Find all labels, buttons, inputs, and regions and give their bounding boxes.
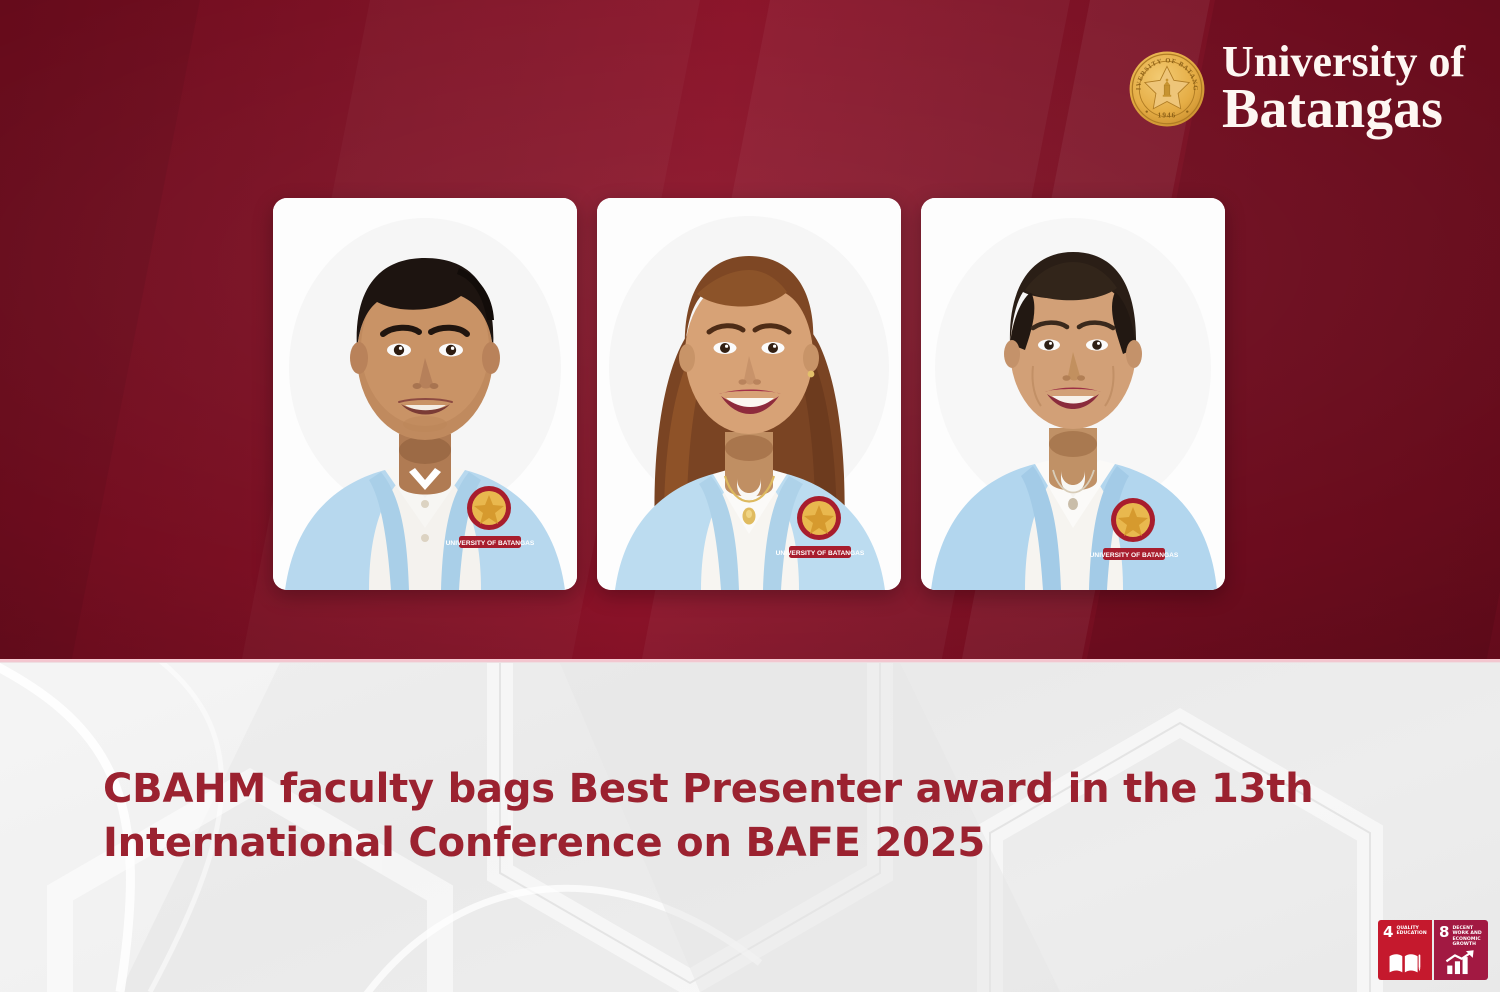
portrait-card: UNIVERSITY OF BATANGAS [273, 198, 577, 590]
announcement-poster: UNIVERSITY OF BATANGAS 1946 University o… [0, 0, 1500, 992]
headline-panel: CBAHM faculty bags Best Presenter award … [0, 663, 1500, 992]
university-brand-lockup: UNIVERSITY OF BATANGAS 1946 University o… [1128, 42, 1465, 136]
sdg-badge-header: 8 DECENT WORK AND ECONOMIC GROWTH [1439, 925, 1484, 948]
svg-text:UNIVERSITY OF BATANGAS: UNIVERSITY OF BATANGAS [446, 540, 535, 547]
faculty-portrait-group: UNIVERSITY OF BATANGAS [273, 198, 1225, 590]
sdg-badge-decent-work[interactable]: 8 DECENT WORK AND ECONOMIC GROWTH [1434, 920, 1488, 980]
portrait-card: UNIVERSITY OF BATANGAS [597, 198, 901, 590]
page-headline: CBAHM faculty bags Best Presenter award … [103, 763, 1403, 870]
open-book-icon [1387, 950, 1421, 976]
svg-text:UNIVERSITY OF BATANGAS: UNIVERSITY OF BATANGAS [1090, 552, 1179, 559]
growth-chart-icon [1443, 950, 1477, 976]
sdg-badge-header: 4 QUALITY EDUCATION [1383, 925, 1428, 940]
sdg-number: 4 [1383, 925, 1393, 940]
brand-line-university: University of [1222, 42, 1465, 82]
sdg-badge-group: 4 QUALITY EDUCATION 8 DECENT WORK AND EC… [1378, 920, 1488, 980]
svg-text:UNIVERSITY OF BATANGAS: UNIVERSITY OF BATANGAS [776, 550, 865, 557]
portrait-faculty-2: UNIVERSITY OF BATANGAS [597, 198, 901, 590]
sdg-label: DECENT WORK AND ECONOMIC GROWTH [1452, 925, 1484, 948]
sdg-number: 8 [1439, 925, 1449, 940]
portrait-faculty-3: UNIVERSITY OF BATANGAS [921, 198, 1225, 590]
university-seal-icon: UNIVERSITY OF BATANGAS 1946 [1128, 50, 1206, 128]
portrait-card: UNIVERSITY OF BATANGAS [921, 198, 1225, 590]
portrait-faculty-1: UNIVERSITY OF BATANGAS [273, 198, 577, 590]
sdg-badge-quality-education[interactable]: 4 QUALITY EDUCATION [1378, 920, 1432, 980]
sdg-label: QUALITY EDUCATION [1396, 925, 1428, 937]
brand-line-batangas: Batangas [1222, 84, 1465, 136]
brand-wordmark: University of Batangas [1222, 42, 1465, 136]
svg-text:1946: 1946 [1158, 111, 1177, 119]
